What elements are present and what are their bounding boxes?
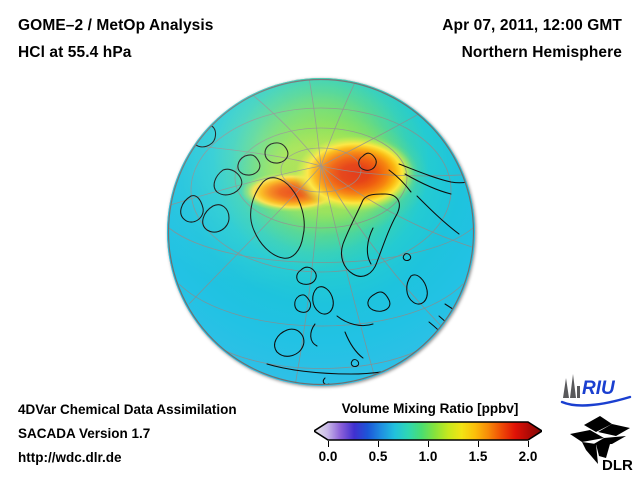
footer-line-version: SACADA Version 1.7 bbox=[18, 426, 150, 441]
colorbar bbox=[314, 420, 542, 442]
region-label: Northern Hemisphere bbox=[462, 44, 622, 62]
riu-skyline-icon bbox=[563, 374, 580, 398]
species-title: HCl at 55.4 hPa bbox=[18, 44, 132, 62]
instrument-title: GOME–2 / MetOp Analysis bbox=[18, 17, 214, 35]
dlr-logo: DLR bbox=[566, 414, 636, 474]
riu-logo: RIU bbox=[560, 372, 634, 408]
colorbar-tick-label: 2.0 bbox=[519, 449, 538, 464]
colorbar-tick-label: 0.0 bbox=[319, 449, 338, 464]
globe-disc bbox=[167, 78, 475, 386]
globe-map bbox=[167, 78, 475, 386]
limb-shading bbox=[167, 78, 475, 386]
colorbar-ticks bbox=[314, 441, 542, 449]
colorbar-tick bbox=[428, 441, 429, 447]
dlr-wordmark: DLR bbox=[602, 457, 633, 474]
colorbar-tick bbox=[528, 441, 529, 447]
colorbar-label: Volume Mixing Ratio [ppbv] bbox=[324, 401, 536, 416]
colorbar-tick bbox=[478, 441, 479, 447]
colorbar-tick bbox=[378, 441, 379, 447]
colorbar-tick bbox=[328, 441, 329, 447]
colorbar-tick-label: 1.0 bbox=[419, 449, 438, 464]
footer-line-method: 4DVar Chemical Data Assimilation bbox=[18, 402, 237, 417]
colorbar-tick-label: 1.5 bbox=[469, 449, 488, 464]
colorbar-tick-labels: 0.00.51.01.52.0 bbox=[300, 449, 556, 469]
colorbar-tick-label: 0.5 bbox=[369, 449, 388, 464]
footer-line-url: http://wdc.dlr.de bbox=[18, 450, 122, 465]
riu-wordmark: RIU bbox=[582, 378, 616, 399]
visualization-canvas: GOME–2 / MetOp Analysis HCl at 55.4 hPa … bbox=[0, 0, 640, 480]
colorbar-gradient bbox=[314, 420, 542, 442]
datetime-label: Apr 07, 2011, 12:00 GMT bbox=[442, 17, 622, 35]
